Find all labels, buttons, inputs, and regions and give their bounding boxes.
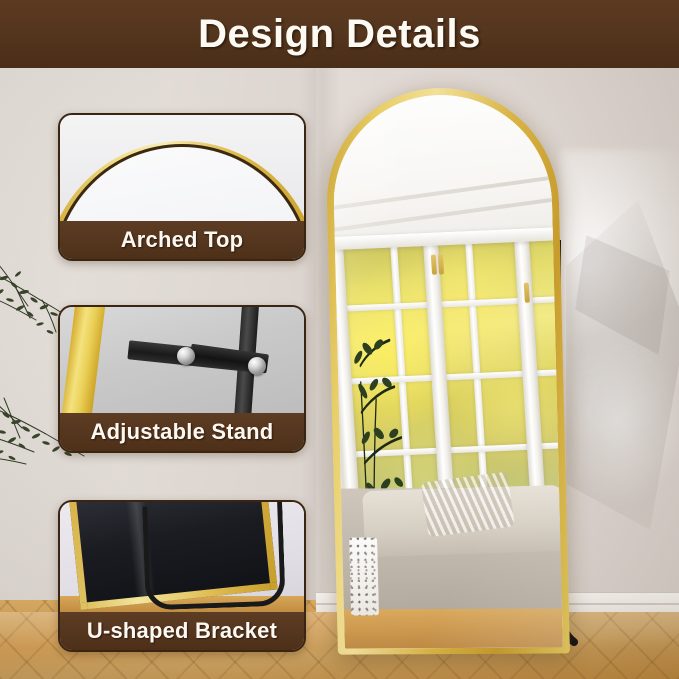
stand-screw-right xyxy=(248,357,266,375)
feature-photo-u-shaped-bracket xyxy=(60,502,304,612)
reflected-terrazzo-pot xyxy=(349,538,379,616)
feature-caption-adjustable-stand: Adjustable Stand xyxy=(60,413,304,451)
stand-screw-left xyxy=(177,347,195,365)
mirror-glass-reflection xyxy=(331,95,563,649)
page-title: Design Details xyxy=(198,12,481,57)
feature-card-adjustable-stand[interactable]: Adjustable Stand xyxy=(58,305,306,453)
feature-photo-arched-top xyxy=(60,115,304,221)
product-mirror xyxy=(324,88,570,655)
feature-caption-arched-top: Arched Top xyxy=(60,221,304,259)
header-banner: Design Details xyxy=(0,0,679,68)
feature-caption-u-shaped-bracket: U-shaped Bracket xyxy=(60,612,304,650)
reflected-throw-blanket xyxy=(421,471,515,537)
feature-card-u-shaped-bracket[interactable]: U-shaped Bracket xyxy=(58,500,306,652)
feature-card-arched-top[interactable]: Arched Top xyxy=(58,113,306,261)
feature-photo-adjustable-stand xyxy=(60,307,304,413)
